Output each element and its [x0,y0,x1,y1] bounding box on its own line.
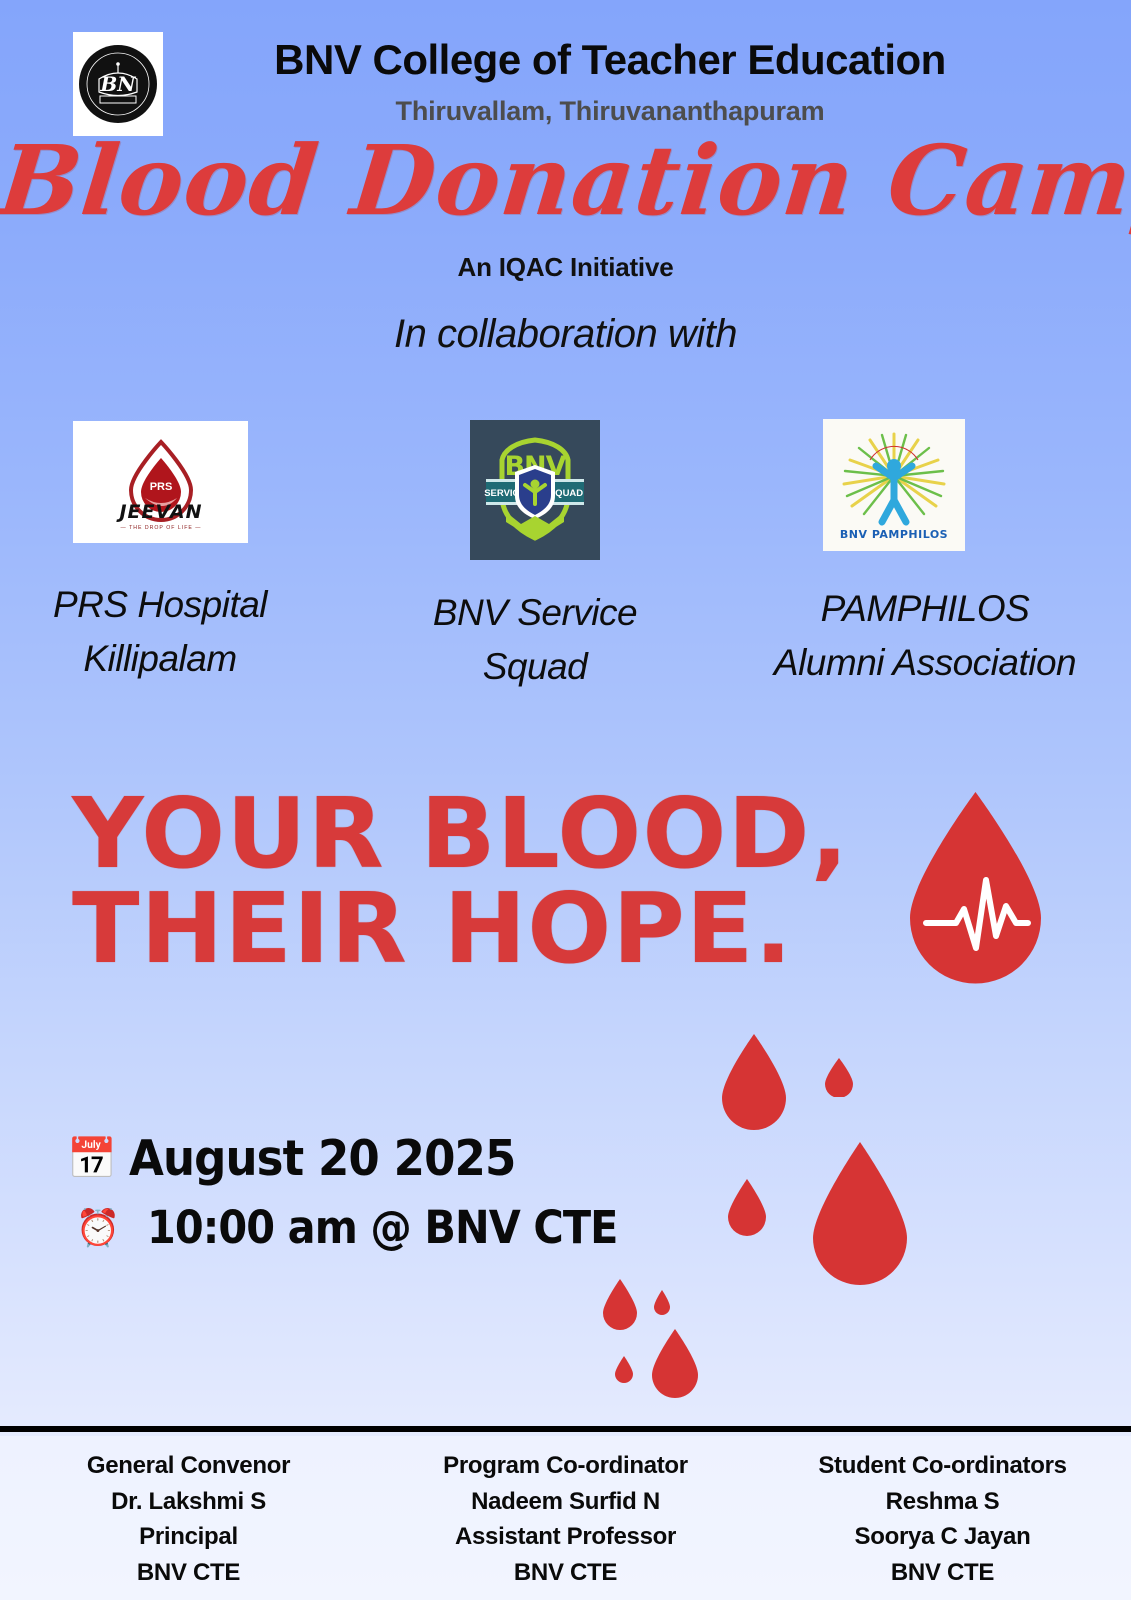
iqac-initiative-text: An IQAC Initiative [0,252,1131,283]
blood-drop-pulse-icon [898,788,1053,986]
prs-hospital-label: PRS Hospital Killipalam [0,578,320,685]
prs-jeevan-logo-icon: PRS JEEVAN — THE DROP OF LIFE — [101,428,221,536]
program-coordinator-institution: BNV CTE [386,1555,746,1591]
footer-column-student-coordinators: Student Co-ordinators Reshma S Soorya C … [763,1448,1123,1590]
college-name: BNV College of Teacher Education [180,38,1040,82]
convenor-institution: BNV CTE [9,1555,369,1591]
bnv-pamphilos-logo-icon: BNV PAMPHILOS [830,426,958,544]
student-coordinators-institution: BNV CTE [763,1555,1123,1591]
bnv-service-squad-label: BNV Service Squad [380,586,690,693]
prs-label-line1: PRS Hospital [0,578,320,632]
prs-hospital-logo-box: PRS JEEVAN — THE DROP OF LIFE — [73,421,248,543]
calendar-icon: 📅 [55,1139,129,1179]
poster-header: BN BNV College of Teacher Education Thir… [0,18,1131,138]
student-coordinators-role: Student Co-ordinators [763,1448,1123,1484]
college-location: Thiruvallam, Thiruvananthapuram [180,96,1040,127]
svg-text:BNV PAMPHILOS: BNV PAMPHILOS [840,528,948,541]
slogan-line-2: THEIR HOPE. [72,881,847,976]
collaboration-intro-text: In collaboration with [0,312,1131,357]
pamphilos-label-line2: Alumni Association [720,636,1130,690]
blood-drop-icon [716,1032,792,1130]
slogan-line-1: YOUR BLOOD, [72,786,847,881]
event-time-row: ⏰ 10:00 am @ BNV CTE [55,1201,675,1254]
program-coordinator-name: Nadeem Surfid N [386,1484,746,1520]
event-time-venue-text: 10:00 am @ BNV CTE [147,1201,618,1254]
convenor-role: General Convenor [9,1448,369,1484]
pamphilos-logo-box: BNV PAMPHILOS [823,419,965,551]
event-date-text: August 20 2025 [129,1130,515,1187]
poster-slogan: YOUR BLOOD, THEIR HOPE. [72,786,847,976]
convenor-name: Dr. Lakshmi S [9,1484,369,1520]
blood-drop-icon-large [805,1140,915,1288]
bnv-service-squad-logo-box: BNV SERVICE SQUAD [470,420,600,560]
bnv-college-crest-icon: BN [79,45,157,123]
blood-drop-icon-small [613,1355,635,1384]
event-date-row: 📅 August 20 2025 [55,1130,675,1187]
blood-drop-icon-small [652,1289,672,1316]
squad-label-line1: BNV Service [380,586,690,640]
student-coordinator-name-2: Soorya C Jayan [763,1519,1123,1555]
svg-text:PRS: PRS [149,481,172,493]
footer-column-general-convenor: General Convenor Dr. Lakshmi S Principal… [9,1448,369,1590]
event-datetime: 📅 August 20 2025 ⏰ 10:00 am @ BNV CTE [55,1130,675,1268]
pamphilos-label: PAMPHILOS Alumni Association [720,582,1130,689]
student-coordinator-name-1: Reshma S [763,1484,1123,1520]
footer-divider [0,1426,1131,1432]
convenor-designation: Principal [9,1519,369,1555]
poster-title: Blood Donation Camp [0,133,1131,229]
college-crest-box: BN [73,32,163,136]
alarm-clock-icon: ⏰ [55,1210,135,1246]
svg-text:— THE DROP OF LIFE —: — THE DROP OF LIFE — [120,525,201,531]
program-coordinator-role: Program Co-ordinator [386,1448,746,1484]
footer-column-program-coordinator: Program Co-ordinator Nadeem Surfid N Ass… [386,1448,746,1590]
poster-footer: General Convenor Dr. Lakshmi S Principal… [0,1436,1131,1600]
program-coordinator-designation: Assistant Professor [386,1519,746,1555]
prs-label-line2: Killipalam [0,632,320,686]
blood-drop-icon [725,1178,769,1236]
blood-drop-icon [648,1327,702,1399]
svg-text:BN: BN [99,72,136,96]
bnv-service-squad-logo-icon: BNV SERVICE SQUAD [476,430,594,550]
blood-donation-camp-poster: BN BNV College of Teacher Education Thir… [0,0,1131,1600]
pamphilos-label-line1: PAMPHILOS [720,582,1130,636]
svg-text:JEEVAN: JEEVAN [115,501,202,523]
blood-drop-icon [600,1278,640,1330]
blood-drop-icon [823,1057,855,1097]
squad-label-line2: Squad [380,640,690,694]
